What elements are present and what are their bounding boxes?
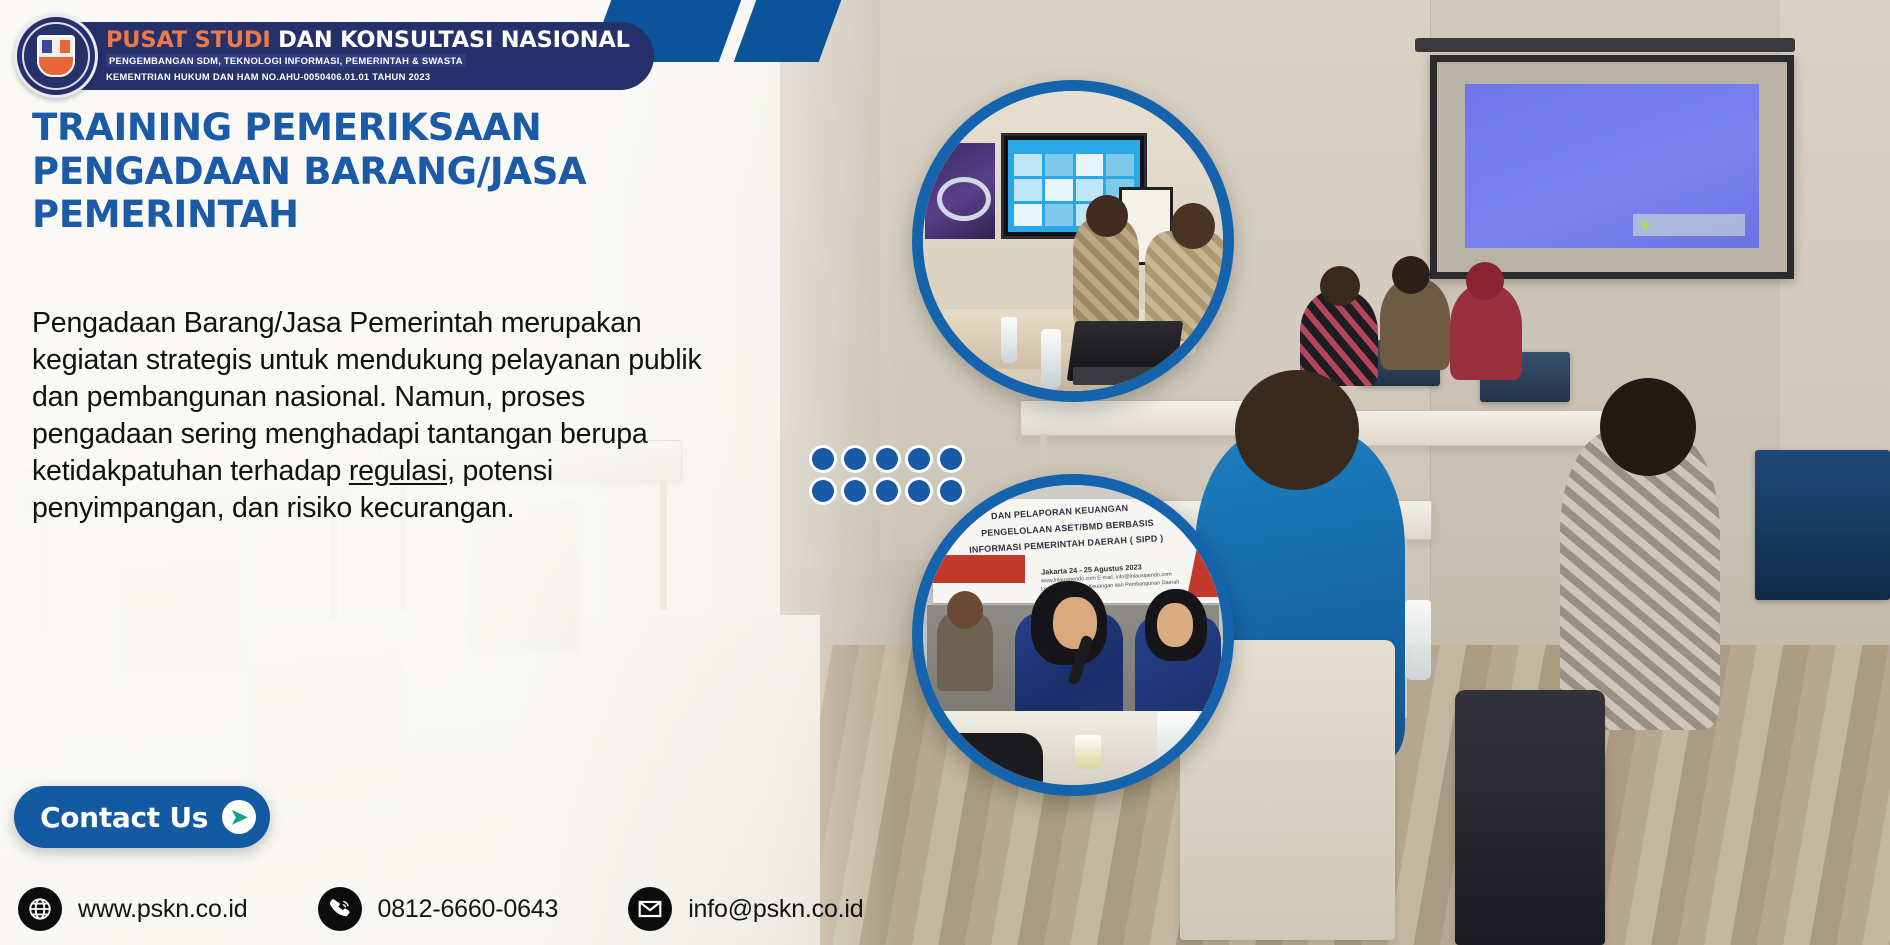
dot [940, 480, 962, 502]
contact-us-label: Contact Us [40, 801, 208, 834]
dot [908, 448, 930, 470]
foreground-attendee-head [1235, 370, 1359, 490]
photo-bottom-glass [1075, 735, 1101, 769]
banner-canvas: PUSAT STUDI DAN KONSULTASI NASIONAL PENG… [0, 0, 1890, 945]
dot [908, 480, 930, 502]
photo-top-person-2-head [1171, 203, 1215, 249]
contact-phone[interactable]: 0812-6660-0643 [318, 887, 559, 931]
website-text: www.pskn.co.id [78, 895, 248, 924]
photo-bottom-banner-line-1: DAN PELAPORAN KEUANGAN [991, 503, 1129, 521]
water-bottle [1405, 600, 1431, 680]
brand-tagline: PENGEMBANGAN SDM, TEKNOLOGI INFORMASI, P… [106, 54, 466, 67]
dot [844, 480, 866, 502]
phone-text: 0812-6660-0643 [378, 895, 559, 924]
attendee-head [1466, 262, 1504, 300]
arrow-right-glyph: ➤ [230, 807, 248, 828]
photo-top-poster [925, 143, 995, 239]
photo-bottom-person-right-face [1157, 603, 1193, 647]
dot [812, 480, 834, 502]
dot [876, 448, 898, 470]
phone-icon [318, 887, 362, 931]
email-text: info@pskn.co.id [688, 895, 863, 924]
arrow-right-icon: ➤ [222, 800, 256, 834]
photo-bottom-bag [923, 733, 1043, 785]
photo-top-person-1-head [1086, 195, 1128, 237]
body-paragraph: Pengadaan Barang/Jasa Pemerintah merupak… [32, 305, 712, 527]
projector-screen-image [1465, 84, 1759, 248]
pskn-crest-icon [14, 14, 98, 98]
dot [876, 480, 898, 502]
envelope-icon [628, 887, 672, 931]
photo-top-bottle-2 [1041, 329, 1061, 389]
body-underlined-term: regulasi [349, 455, 447, 487]
photo-bottom-banner-red-tag [933, 555, 1025, 583]
laptop [1755, 450, 1890, 600]
globe-icon [18, 887, 62, 931]
book-shield-icon [37, 35, 75, 77]
photo-top-laptop-keyboard [1073, 367, 1191, 385]
projector-toast [1633, 214, 1745, 236]
dot [940, 448, 962, 470]
brand-name-line: PUSAT STUDI DAN KONSULTASI NASIONAL [106, 29, 630, 52]
photo-bottom-content: DAN PELAPORAN KEUANGAN PENGELOLAAN ASET/… [923, 485, 1223, 785]
dot [844, 448, 866, 470]
photo-top-content [923, 91, 1223, 391]
dot-grid-decoration [812, 448, 972, 512]
table [1320, 410, 1622, 446]
photo-bottom-person-left-head [947, 591, 983, 629]
brand-logo-lockup: PUSAT STUDI DAN KONSULTASI NASIONAL PENG… [14, 14, 654, 98]
brand-name-white: DAN KONSULTASI NASIONAL [278, 27, 630, 53]
foreground-attendee-head [1600, 378, 1696, 476]
photo-bottom-banner-red-corner [1187, 505, 1223, 597]
contact-email[interactable]: info@pskn.co.id [628, 887, 863, 931]
page-title: TRAINING PEMERIKSAAN PENGADAAN BARANG/JA… [32, 106, 672, 237]
contact-footer: www.pskn.co.id 0812-6660-0643 info@pskn.… [18, 887, 863, 931]
photo-circle-top [912, 80, 1234, 402]
photo-bottom-water-jug [1157, 711, 1199, 765]
contact-us-button[interactable]: Contact Us ➤ [14, 786, 270, 848]
attendee-head [1392, 256, 1430, 294]
photo-top-bottle-1 [1001, 317, 1017, 363]
brand-legal-line: KEMENTRIAN HUKUM DAN HAM NO.AHU-0050406.… [106, 71, 630, 82]
attendee-head [1320, 266, 1360, 306]
projector-roller [1415, 38, 1795, 52]
brand-name-orange: PUSAT STUDI [106, 27, 271, 53]
brand-name-block: PUSAT STUDI DAN KONSULTASI NASIONAL PENG… [76, 22, 654, 91]
projector-screen [1430, 55, 1794, 279]
contact-website[interactable]: www.pskn.co.id [18, 887, 248, 931]
dot [812, 448, 834, 470]
chair [1455, 690, 1605, 945]
photo-circle-bottom: DAN PELAPORAN KEUANGAN PENGELOLAAN ASET/… [912, 474, 1234, 796]
